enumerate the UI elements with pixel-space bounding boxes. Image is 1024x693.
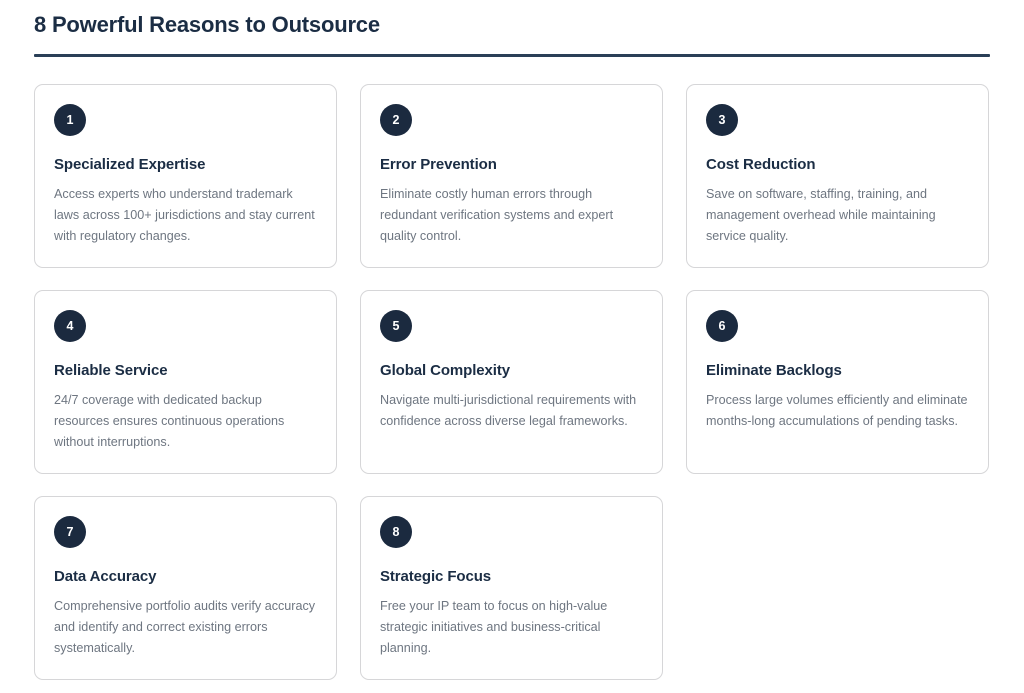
reason-card-description: Navigate multi-jurisdictional requiremen… [380,390,642,432]
reason-card[interactable]: 6 Eliminate Backlogs Process large volum… [686,290,989,474]
reason-card[interactable]: 8 Strategic Focus Free your IP team to f… [360,496,663,680]
reason-number-badge: 7 [54,516,86,548]
reason-number-badge: 1 [54,104,86,136]
reason-card[interactable]: 5 Global Complexity Navigate multi-juris… [360,290,663,474]
reason-card[interactable]: 7 Data Accuracy Comprehensive portfolio … [34,496,337,680]
reason-card-title: Strategic Focus [380,567,643,587]
reason-card[interactable]: 2 Error Prevention Eliminate costly huma… [360,84,663,268]
reason-number-badge: 6 [706,310,738,342]
title-divider [34,54,990,57]
reason-card-title: Reliable Service [54,361,317,381]
reason-card-description: Free your IP team to focus on high-value… [380,596,642,659]
reason-card[interactable]: 3 Cost Reduction Save on software, staff… [686,84,989,268]
reason-card-title: Error Prevention [380,155,643,175]
reason-card[interactable]: 1 Specialized Expertise Access experts w… [34,84,337,268]
reason-card-description: Save on software, staffing, training, an… [706,184,968,247]
reason-card-description: Process large volumes efficiently and el… [706,390,968,432]
reason-card-title: Data Accuracy [54,567,317,587]
page-title: 8 Powerful Reasons to Outsource [34,0,990,40]
reason-card-title: Global Complexity [380,361,643,381]
reason-card-description: Comprehensive portfolio audits verify ac… [54,596,316,659]
reason-card-description: Eliminate costly human errors through re… [380,184,642,247]
reasons-to-outsource-page: 8 Powerful Reasons to Outsource 1 Specia… [0,0,1024,693]
reason-card-title: Specialized Expertise [54,155,317,175]
reason-card-description: Access experts who understand trademark … [54,184,316,247]
reason-number-badge: 8 [380,516,412,548]
reason-card-grid: 1 Specialized Expertise Access experts w… [34,84,990,680]
reason-card[interactable]: 4 Reliable Service 24/7 coverage with de… [34,290,337,474]
reason-number-badge: 3 [706,104,738,136]
reason-number-badge: 5 [380,310,412,342]
reason-number-badge: 4 [54,310,86,342]
reason-card-description: 24/7 coverage with dedicated backup reso… [54,390,316,453]
reason-card-title: Cost Reduction [706,155,969,175]
reason-card-title: Eliminate Backlogs [706,361,969,381]
reason-number-badge: 2 [380,104,412,136]
